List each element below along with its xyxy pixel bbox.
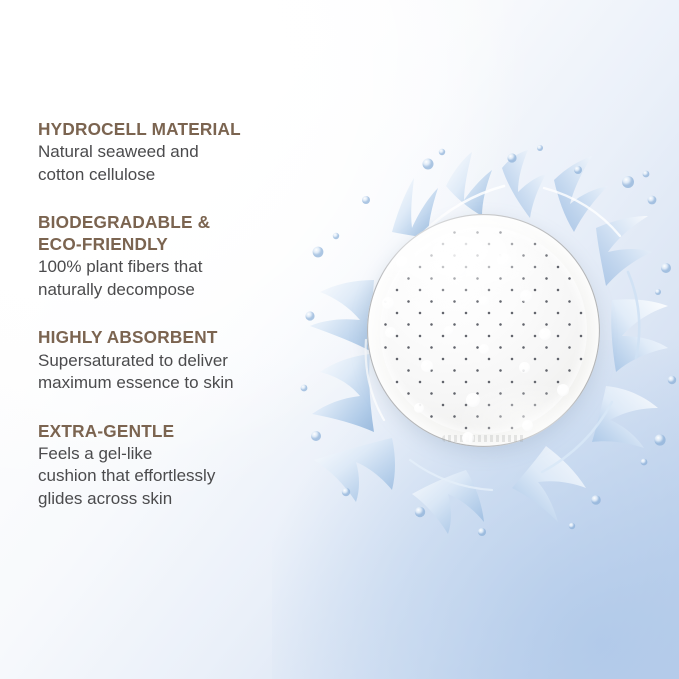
moisture-bubble — [479, 344, 489, 354]
feature-description: 100% plant fibers that naturally decompo… — [38, 256, 306, 301]
feature-item-hydrocell-material: HYDROCELL MATERIAL Natural seaweed and c… — [38, 118, 306, 186]
mask-embossed-marking — [442, 435, 526, 442]
feature-title: EXTRA-GENTLE — [38, 420, 306, 442]
moisture-bubble — [557, 384, 569, 396]
feature-description: Natural seaweed and cotton cellulose — [38, 141, 306, 186]
feature-title: HIGHLY ABSORBENT — [38, 326, 306, 348]
moisture-bubble — [519, 362, 530, 373]
feature-item-extra-gentle: EXTRA-GENTLE Feels a gel-like cushion th… — [38, 420, 306, 511]
feature-title: HYDROCELL MATERIAL — [38, 118, 306, 140]
feature-description: Feels a gel-like cushion that effortless… — [38, 443, 306, 511]
moisture-bubble — [522, 420, 533, 431]
product-feature-graphic: HYDROCELL MATERIAL Natural seaweed and c… — [0, 0, 679, 679]
moisture-bubble — [520, 290, 532, 302]
feature-item-biodegradable-eco-friendly: BIODEGRADABLE & ECO-FRIENDLY 100% plant … — [38, 211, 306, 301]
moisture-bubble — [396, 256, 409, 269]
feature-title: BIODEGRADABLE & ECO-FRIENDLY — [38, 211, 306, 255]
moisture-bubble — [421, 360, 433, 372]
moisture-bubble — [479, 296, 489, 306]
moisture-bubble — [414, 403, 424, 413]
moisture-bubble — [539, 328, 551, 340]
moisture-bubble — [462, 432, 474, 444]
mask-rim-outline — [367, 214, 600, 447]
feature-item-highly-absorbent: HIGHLY ABSORBENT Supersaturated to deliv… — [38, 326, 306, 394]
moisture-bubble — [466, 393, 480, 407]
sheet-mask-disc — [367, 214, 600, 447]
feature-list: HYDROCELL MATERIAL Natural seaweed and c… — [38, 118, 306, 511]
moisture-bubble — [444, 326, 453, 335]
moisture-bubble — [385, 327, 396, 338]
feature-description: Supersaturated to deliver maximum essenc… — [38, 350, 306, 395]
moisture-bubble — [497, 253, 511, 267]
moisture-bubble — [382, 297, 394, 309]
moisture-bubble — [457, 267, 466, 276]
